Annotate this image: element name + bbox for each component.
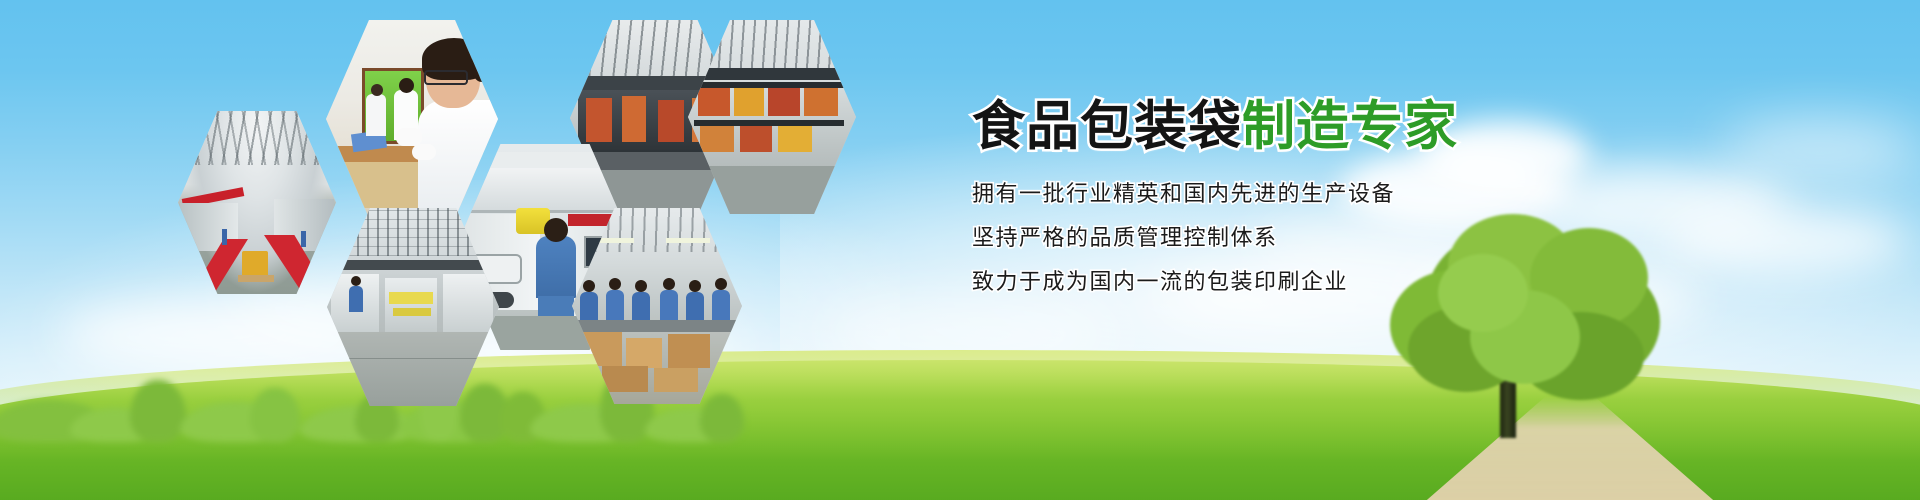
headline-green-text: 制造专家 — [1242, 97, 1458, 156]
hex-photo-collage — [0, 0, 800, 400]
page-title: 食品包装袋制造专家 — [972, 100, 1712, 153]
subtitle-list: 拥有一批行业精英和国内先进的生产设备 坚持严格的品质管理控制体系 致力于成为国内… — [972, 183, 1712, 293]
promo-banner: 食品包装袋制造专家 拥有一批行业精英和国内先进的生产设备 坚持严格的品质管理控制… — [0, 0, 1920, 500]
banner-copy: 食品包装袋制造专家 拥有一批行业精英和国内先进的生产设备 坚持严格的品质管理控制… — [972, 100, 1712, 315]
hex-printing-workshop-red-carpet — [178, 111, 336, 294]
hex-quality-inspection-lab — [326, 20, 498, 218]
subtitle-line-1: 拥有一批行业精英和国内先进的生产设备 — [972, 183, 1712, 205]
headline-dark-text: 食品包装袋 — [972, 97, 1242, 156]
subtitle-line-3: 致力于成为国内一流的包装印刷企业 — [972, 271, 1712, 293]
subtitle-line-2: 坚持严格的品质管理控制体系 — [972, 227, 1712, 249]
